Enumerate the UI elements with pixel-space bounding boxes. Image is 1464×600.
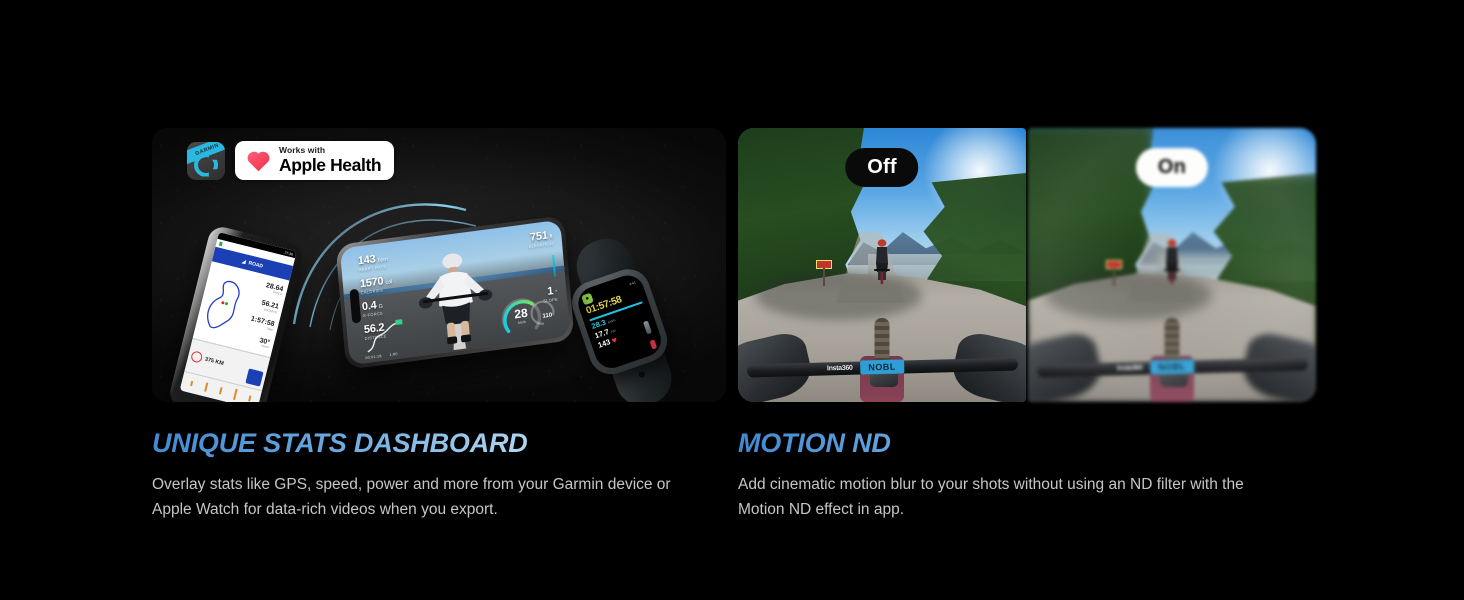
camera-brand-decal: Insta360 bbox=[1117, 365, 1143, 373]
stats-dashboard-media-card: GARMIN Works with Apple Health bbox=[152, 128, 726, 402]
phone-screen: 143bpm HEART RATE 1570cal CALORIES 0.4G … bbox=[340, 220, 571, 366]
rider-ahead bbox=[869, 238, 895, 284]
training-bar bbox=[248, 395, 251, 401]
speed-gauge: 28 km/h 110 bbox=[498, 286, 558, 339]
motion-nd-text: MOTION ND Add cinematic motion blur to y… bbox=[738, 402, 1316, 523]
feature-highlights-page: GARMIN Works with Apple Health bbox=[0, 0, 1464, 600]
overlay-minimap bbox=[361, 316, 415, 355]
training-bar bbox=[204, 383, 208, 392]
apple-health-text: Works with Apple Health bbox=[279, 146, 381, 174]
feature-description: Add cinematic motion blur to your shots … bbox=[738, 472, 1278, 523]
band-hole bbox=[638, 371, 646, 379]
handlebar-assembly: Insta360 NOBL bbox=[1028, 292, 1316, 402]
handlebar-assembly: Insta360 NOBL bbox=[738, 292, 1026, 402]
overlay-stat: 0.4G G-FORCE bbox=[361, 298, 394, 318]
camera-brand-decal: Insta360 bbox=[827, 365, 853, 373]
overlay-stat: 1570cal CALORIES bbox=[359, 275, 392, 295]
feature-column-motion-nd: Insta360 NOBL Off bbox=[738, 128, 1316, 523]
overlay-stat-unit: G bbox=[378, 304, 383, 311]
overlay-stat: 143bpm HEART RATE bbox=[357, 252, 390, 272]
watch-heart-rate-value: 143 bbox=[597, 338, 611, 350]
overlay-stat: 751ft ELEVATION bbox=[528, 230, 554, 249]
heart-icon bbox=[611, 337, 617, 343]
watch-distance-unit: KM bbox=[611, 329, 617, 334]
training-bar bbox=[233, 389, 238, 400]
works-with-label: Works with bbox=[279, 146, 381, 155]
rider-ahead bbox=[1159, 238, 1185, 284]
edge-nav-distance: 375 KM bbox=[204, 356, 224, 366]
training-bar bbox=[219, 387, 223, 394]
stats-dashboard-text: UNIQUE STATS DASHBOARD Overlay stats lik… bbox=[152, 402, 726, 523]
heart-icon bbox=[246, 149, 271, 172]
rim-brand-decal: NOBL bbox=[1150, 359, 1194, 374]
edge-nav-tile bbox=[245, 368, 263, 386]
edge-stat: 30° TEMP bbox=[258, 337, 271, 350]
watch-screen: ● 9:41 01:57:58 28.3 KM/H 17.7 KM bbox=[574, 271, 666, 373]
bike-icon: ◢ bbox=[241, 258, 246, 265]
watch-speed-unit: KM/H bbox=[608, 319, 617, 325]
speed-value: 28 bbox=[514, 306, 529, 322]
trail-signpost bbox=[816, 260, 832, 269]
comparison-label-off: Off bbox=[845, 148, 918, 187]
signal-icon bbox=[219, 242, 223, 247]
overlay-stat-unit: ft bbox=[550, 234, 553, 240]
trail-signpost bbox=[1106, 260, 1122, 269]
edge-stat: 28.64 SPEED bbox=[264, 282, 283, 296]
garmin-connect-icon: GARMIN bbox=[187, 142, 225, 180]
edge-stat: 56.21 DISTANCE bbox=[260, 300, 279, 314]
page-title: UNIQUE STATS DASHBOARD bbox=[152, 428, 726, 459]
speed-unit: km/h bbox=[518, 320, 526, 325]
compatibility-badges: GARMIN Works with Apple Health bbox=[187, 141, 394, 180]
motion-nd-comparison: Insta360 NOBL Off bbox=[738, 128, 1316, 402]
comparison-shot-on[interactable]: Insta360 NOBL On bbox=[1028, 128, 1316, 402]
apple-health-label: Apple Health bbox=[279, 157, 381, 175]
edge-stat-label: TEMP bbox=[258, 344, 269, 349]
garmin-c-logo bbox=[194, 153, 218, 177]
overlay-stat-label: ELEVATION bbox=[529, 242, 554, 249]
apple-health-badge: Works with Apple Health bbox=[235, 141, 394, 180]
training-bar bbox=[190, 381, 193, 386]
secondary-gauge-value: 110 bbox=[542, 312, 553, 319]
feature-description: Overlay stats like GPS, speed, power and… bbox=[152, 472, 672, 523]
feature-column-stats-dashboard: GARMIN Works with Apple Health bbox=[152, 128, 726, 523]
comparison-label-on: On bbox=[1136, 148, 1208, 187]
overlay-stat-unit: bpm bbox=[377, 257, 388, 264]
overlay-stat-unit: cal bbox=[385, 279, 392, 286]
cyclist-illustration bbox=[408, 243, 502, 350]
comparison-shot-off[interactable]: Insta360 NOBL Off bbox=[738, 128, 1026, 402]
page-title: MOTION ND bbox=[738, 428, 1316, 459]
edge-stat: 1:57:58 TIME bbox=[249, 316, 275, 332]
rim-brand-decal: NOBL bbox=[860, 359, 904, 374]
edge-activity-label: ROAD bbox=[248, 260, 264, 269]
navigation-icon bbox=[190, 350, 203, 363]
watch-clock: 9:41 bbox=[629, 280, 637, 286]
overlay-stat-unit: ° bbox=[555, 290, 558, 296]
